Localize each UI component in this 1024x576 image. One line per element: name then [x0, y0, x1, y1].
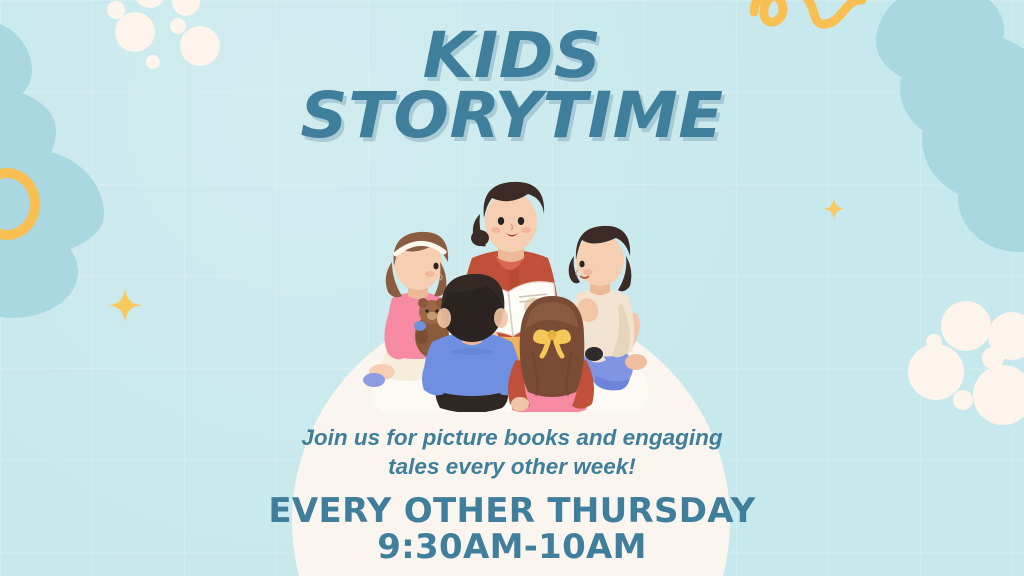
bubble-dot [953, 390, 973, 410]
bubble-dot [172, 0, 200, 16]
event-details: Join us for picture books and engaging t… [0, 424, 1024, 565]
poster-canvas: KIDS STORYTIME [0, 0, 1024, 576]
schedule-day: EVERY OTHER THURSDAY [268, 491, 755, 531]
bubble-dot [926, 334, 942, 350]
schedule-time: 9:30AM-10AM [0, 529, 1024, 565]
bubble-dot [134, 0, 166, 8]
bubble-dot [941, 301, 991, 351]
subtitle-line-1: Join us for picture books and engaging [301, 425, 722, 450]
subtitle-line-2: tales every other week! [388, 454, 636, 479]
title-line-2: STORYTIME [0, 86, 1024, 146]
page-title: KIDS STORYTIME [0, 26, 1024, 147]
sparkle-icon [108, 284, 142, 327]
event-subtitle: Join us for picture books and engaging t… [282, 424, 742, 482]
sparkle-icon [823, 195, 845, 223]
storytime-illustration [360, 176, 660, 412]
event-schedule: EVERY OTHER THURSDAY 9:30AM-10AM [0, 493, 1024, 565]
bubble-dot [973, 365, 1024, 425]
